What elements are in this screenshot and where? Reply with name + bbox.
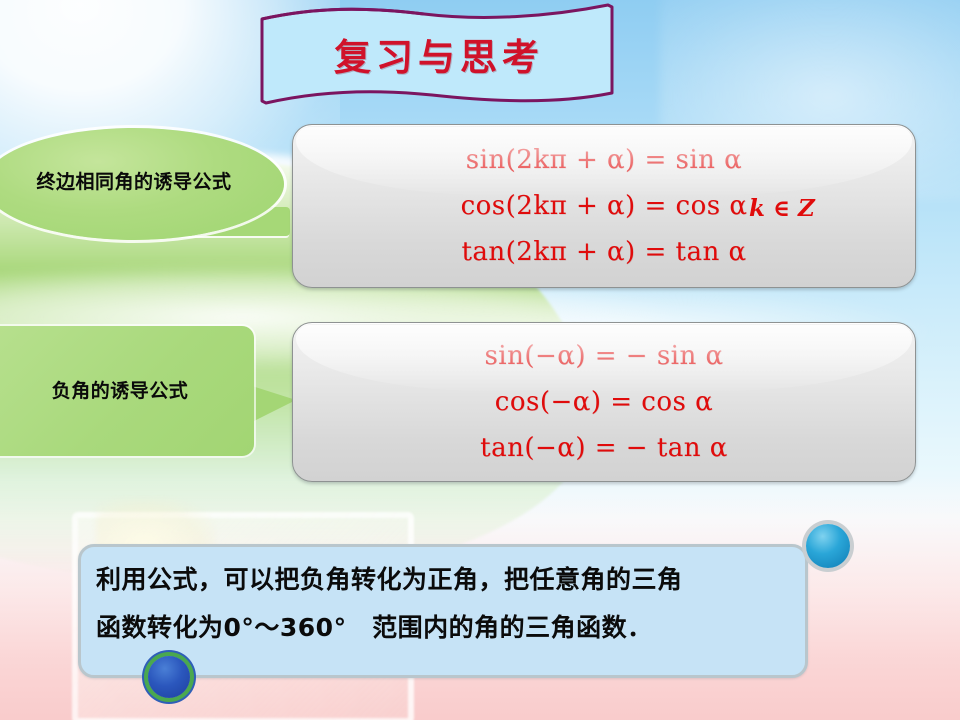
formula-list-2: sin(−α) = − sin α cos(−α) = cos α tan(−α…: [293, 323, 915, 481]
decorative-dot-bottom-left: [148, 656, 190, 698]
formula-panel-coterminal: sin(2kπ + α) = sin α cos(2kπ + α) = cos …: [292, 124, 916, 288]
conclusion-text: 利用公式，可以把负角转化为正角，把任意角的三角 函数转化为0°～360° 范围内…: [96, 556, 796, 652]
formula-tan-negative: tan(−α) = − tan α: [480, 433, 728, 463]
slide-canvas: 复习与思考 终边相同角的诱导公式 负角的诱导公式 sin(2kπ + α) = …: [0, 0, 960, 720]
callout-2-label: 负角的诱导公式: [0, 376, 254, 403]
title-ribbon: 复习与思考: [256, 1, 622, 113]
formula-cos-negative: cos(−α) = cos α: [495, 387, 713, 417]
conclusion-line-2: 函数转化为0°～360° 范围内的角的三角函数．: [96, 604, 796, 652]
decorative-dot-top-right: [806, 524, 850, 568]
formula-sin-coterminal: sin(2kπ + α) = sin α: [466, 145, 743, 175]
conclusion-line-1: 利用公式，可以把负角转化为正角，把任意角的三角: [96, 556, 796, 604]
formula-list-1: sin(2kπ + α) = sin α cos(2kπ + α) = cos …: [293, 125, 915, 287]
callout-1-label: 终边相同角的诱导公式: [0, 167, 284, 194]
callout-2-tail: [252, 386, 296, 422]
formula-cos-coterminal: cos(2kπ + α) = cos α: [461, 191, 748, 221]
condition-k-in-z: k ∈ Z: [749, 195, 815, 222]
slide-title: 复习与思考: [256, 27, 622, 81]
formula-tan-coterminal: tan(2kπ + α) = tan α: [461, 237, 746, 267]
formula-sin-negative: sin(−α) = − sin α: [484, 341, 723, 371]
formula-panel-negative: sin(−α) = − sin α cos(−α) = cos α tan(−α…: [292, 322, 916, 482]
